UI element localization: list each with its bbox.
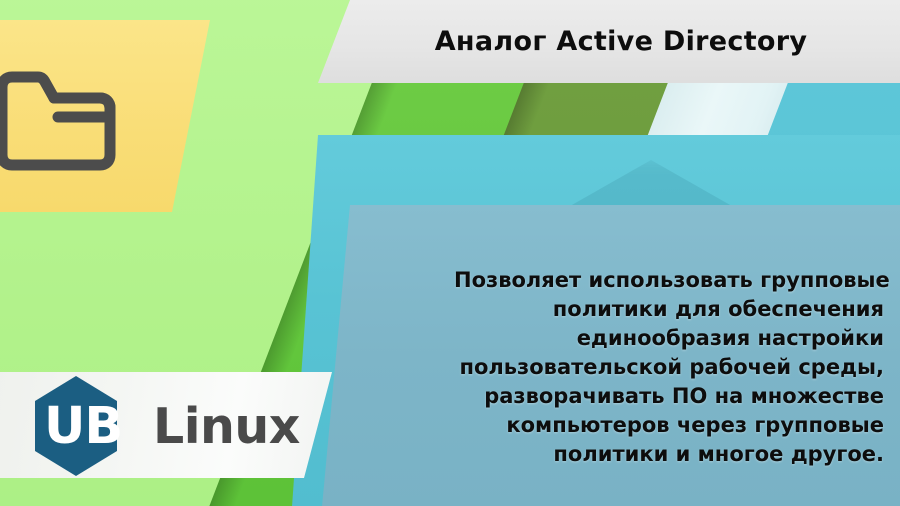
body-line: компьютеров через групповые	[454, 411, 884, 440]
logo-wordmark: Linux	[153, 402, 300, 451]
slide-canvas: Аналог Active Directory UB Linux Позволя…	[0, 0, 900, 506]
brand-logo: UB Linux	[35, 376, 300, 476]
body-paragraph: Позволяет использовать групповые политик…	[454, 266, 884, 469]
folder-icon	[0, 65, 120, 181]
body-line: единообразия настройки	[454, 324, 884, 353]
title-banner: Аналог Active Directory	[318, 0, 900, 83]
page-title: Аналог Active Directory	[411, 26, 808, 57]
body-line: разворачивать ПО на множестве	[454, 382, 884, 411]
logo-mark-text: UB	[35, 376, 147, 476]
body-line: пользовательской рабочей среды,	[454, 353, 884, 382]
body-line: Позволяет использовать групповые	[454, 266, 884, 295]
body-line: политики и многое другое.	[454, 440, 884, 469]
body-line: политики для обеспечения	[454, 295, 884, 324]
